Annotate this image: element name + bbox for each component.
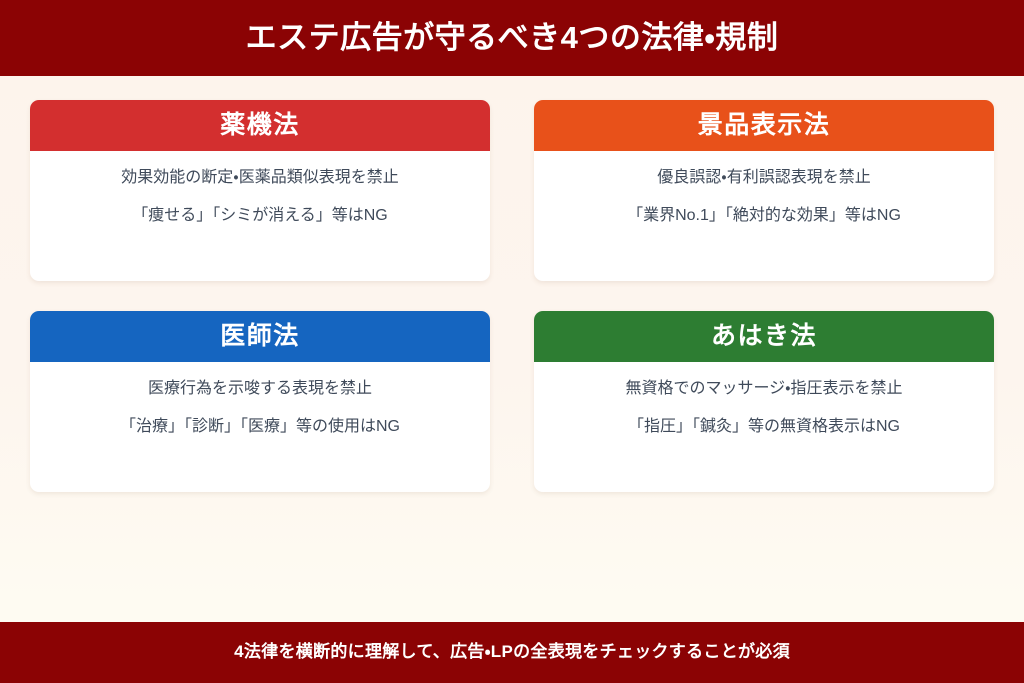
law-card-body-ishiho: 医療行為を示唆する表現を禁止 「治療」「診断」「医療」等の使用はNG (30, 362, 490, 492)
law-card-title-yakkiho: 薬機法 (220, 113, 300, 138)
header-band: エステ広告が守るべき4つの法律・規制 (0, 0, 1024, 76)
law-card-line: 「業界No.1」「絶対的な効果」等はNG (548, 208, 980, 224)
law-card-body-keihin-hyojiho: 優良誤認・有利誤認表現を禁止 「業界No.1」「絶対的な効果」等はNG (534, 151, 994, 281)
law-card-ahakiho: あはき法 無資格でのマッサージ・指圧表示を禁止 「指圧」「鍼灸」等の無資格表示は… (534, 311, 994, 492)
law-card-line: 医療行為を示唆する表現を禁止 (44, 381, 476, 397)
law-card-line: 「指圧」「鍼灸」等の無資格表示はNG (548, 419, 980, 435)
law-card-line: 効果効能の断定・医薬品類似表現を禁止 (44, 170, 476, 186)
law-card-line: 「治療」「診断」「医療」等の使用はNG (44, 419, 476, 435)
law-card-header-ishiho: 医師法 (30, 311, 490, 362)
law-card-yakkiho: 薬機法 効果効能の断定・医薬品類似表現を禁止 「痩せる」「シミが消える」等はNG (30, 100, 490, 281)
page-title: エステ広告が守るべき4つの法律・規制 (246, 21, 779, 55)
law-card-header-yakkiho: 薬機法 (30, 100, 490, 151)
law-card-keihin-hyojiho: 景品表示法 優良誤認・有利誤認表現を禁止 「業界No.1」「絶対的な効果」等はN… (534, 100, 994, 281)
law-card-line: 優良誤認・有利誤認表現を禁止 (548, 170, 980, 186)
law-card-grid: 薬機法 効果効能の断定・医薬品類似表現を禁止 「痩せる」「シミが消える」等はNG… (30, 100, 994, 492)
law-card-title-keihin-hyojiho: 景品表示法 (698, 113, 831, 138)
law-card-header-ahakiho: あはき法 (534, 311, 994, 362)
footer-band: 4法律を横断的に理解して、広告・LPの全表現をチェックすることが必須 (0, 622, 1024, 683)
cards-area: 薬機法 効果効能の断定・医薬品類似表現を禁止 「痩せる」「シミが消える」等はNG… (0, 76, 1024, 622)
footer-message: 4法律を横断的に理解して、広告・LPの全表現をチェックすることが必須 (234, 643, 790, 662)
law-card-title-ahakiho: あはき法 (711, 324, 817, 349)
law-card-title-ishiho: 医師法 (220, 324, 300, 349)
law-card-header-keihin-hyojiho: 景品表示法 (534, 100, 994, 151)
law-card-body-yakkiho: 効果効能の断定・医薬品類似表現を禁止 「痩せる」「シミが消える」等はNG (30, 151, 490, 281)
law-card-line: 無資格でのマッサージ・指圧表示を禁止 (548, 381, 980, 397)
slide-root: エステ広告が守るべき4つの法律・規制 薬機法 効果効能の断定・医薬品類似表現を禁… (0, 0, 1024, 683)
law-card-line: 「痩せる」「シミが消える」等はNG (44, 208, 476, 224)
law-card-ishiho: 医師法 医療行為を示唆する表現を禁止 「治療」「診断」「医療」等の使用はNG (30, 311, 490, 492)
law-card-body-ahakiho: 無資格でのマッサージ・指圧表示を禁止 「指圧」「鍼灸」等の無資格表示はNG (534, 362, 994, 492)
